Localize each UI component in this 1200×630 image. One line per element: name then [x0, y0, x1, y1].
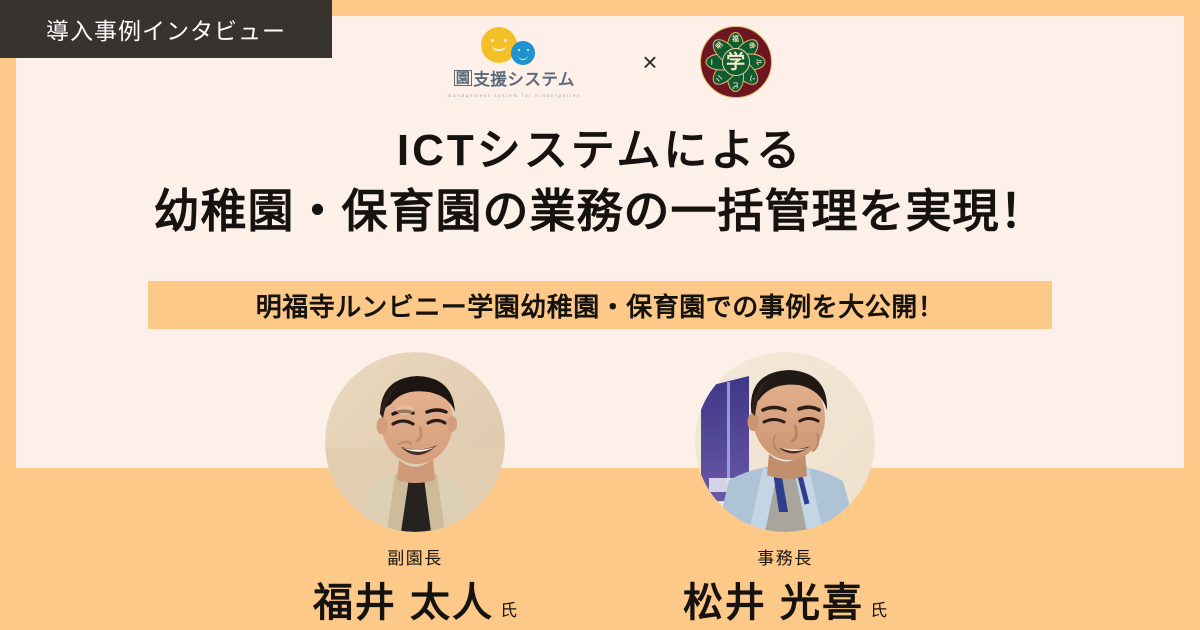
avatar [695, 352, 875, 532]
product-logo: 園支援システム management system for kindergart… [428, 27, 600, 98]
category-badge: 導入事例インタビュー [0, 0, 332, 58]
subheadline-band: 明福寺ルンビニー学園幼稚園・保育園での事例を大公開！ [148, 281, 1052, 329]
product-logo-tagline: management system for kindergarten [447, 92, 581, 97]
headline: ICTシステムによる 幼稚園・保育園の業務の一括管理を実現！ [0, 122, 1200, 242]
person-name-text: 松井 光喜 [683, 581, 864, 625]
headline-line-2: 幼稚園・保育園の業務の一括管理を実現！ [0, 181, 1200, 242]
person-role: 事務長 [655, 544, 915, 569]
person-name: 福井 太人氏 [285, 570, 545, 628]
person-honorific: 氏 [870, 601, 887, 620]
person-name-text: 福井 太人 [313, 581, 494, 625]
emblem-petal-char: ビ [728, 80, 743, 87]
person-role: 副園長 [285, 544, 545, 569]
school-emblem: 福 寺 ル ン ビ ニ ー 明 学 [700, 26, 772, 98]
emblem-petal-char: ル [754, 55, 761, 70]
headline-line-1: ICTシステムによる [0, 122, 1200, 181]
poster-canvas: 導入事例インタビュー 園支援システム management system for… [0, 0, 1200, 630]
emblem-center-char: 学 [722, 48, 750, 76]
emblem-petal-char: 福 [728, 37, 743, 44]
product-logo-name-rest: 支援システム [473, 71, 575, 89]
product-logo-boxed-char: 園 [454, 70, 473, 87]
person-name: 松井 光喜氏 [655, 570, 915, 628]
smiley-small-icon [511, 41, 535, 65]
emblem-petal-char: ー [711, 55, 718, 70]
people-row: 副園長 福井 太人氏 [0, 352, 1200, 630]
product-logo-wordmark: 園支援システム [454, 66, 575, 90]
multiply-icon: × [642, 49, 657, 75]
smiley-faces-icon [459, 27, 569, 65]
person-honorific: 氏 [500, 601, 517, 620]
person-card-0: 副園長 福井 太人氏 [285, 352, 545, 628]
avatar [325, 352, 505, 532]
category-badge-label: 導入事例インタビュー [46, 12, 286, 46]
person-card-1: 事務長 松井 光喜氏 [655, 352, 915, 628]
subheadline-text: 明福寺ルンビニー学園幼稚園・保育園での事例を大公開！ [256, 287, 944, 324]
